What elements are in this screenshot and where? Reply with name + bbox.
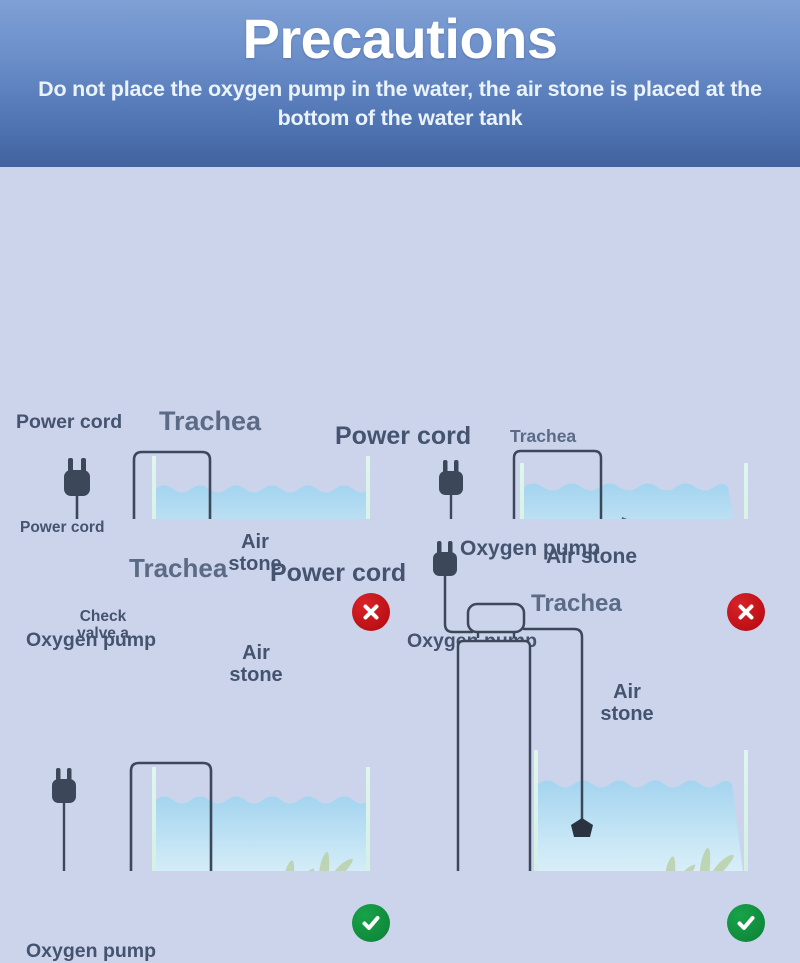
tank-top-right: [520, 463, 748, 519]
check-icon: [360, 912, 382, 934]
label-oxygen-pump: Oxygen pump: [26, 941, 156, 963]
tank-bottom-left: [152, 767, 370, 871]
tank-bottom-right: [534, 750, 748, 871]
panel-top-left: Power cord Trachea Air stone Oxygen pump: [0, 167, 400, 519]
tank-top-left: [152, 456, 370, 519]
label-power-cord: Power cord: [16, 412, 122, 434]
label-air-stone: Air stone: [597, 681, 657, 726]
header-banner: Precautions Do not place the oxygen pump…: [0, 0, 800, 167]
diagram-top-left: [0, 167, 400, 519]
pump-stand-bottom-right: [458, 641, 530, 871]
label-trachea: Trachea: [510, 427, 576, 447]
status-badge-correct: [727, 904, 765, 942]
label-power-cord: Power cord: [270, 559, 406, 587]
panel-top-right: Power cord Trachea Air stone Oxygen pump: [400, 167, 800, 519]
power-plug-bottom-left: [52, 768, 76, 871]
label-trachea: Trachea: [159, 406, 261, 436]
power-plug-top-right: [439, 460, 463, 519]
page-title: Precautions: [0, 8, 800, 71]
power-plug-top-left: [64, 458, 90, 519]
label-power-cord: Power cord: [335, 422, 471, 450]
label-trachea: Trachea: [531, 591, 622, 618]
oxygen-pump-bottom-right: [468, 604, 524, 638]
label-trachea: Trachea: [129, 554, 227, 583]
diagram-area: Power cord Trachea Air stone Oxygen pump: [0, 167, 800, 872]
label-check-valve: Check valve a: [72, 608, 134, 643]
label-oxygen-pump: Oxygen pump: [460, 537, 600, 561]
panel-bottom-right: Power cord Oxygen pump Trachea Air stone: [400, 519, 800, 871]
label-power-cord: Power cord: [20, 519, 104, 536]
page-subtitle: Do not place the oxygen pump in the wate…: [30, 75, 770, 133]
label-air-stone: Air stone: [226, 642, 286, 687]
status-badge-correct: [352, 904, 390, 942]
check-icon: [735, 912, 757, 934]
diagram-top-right: [400, 167, 800, 519]
